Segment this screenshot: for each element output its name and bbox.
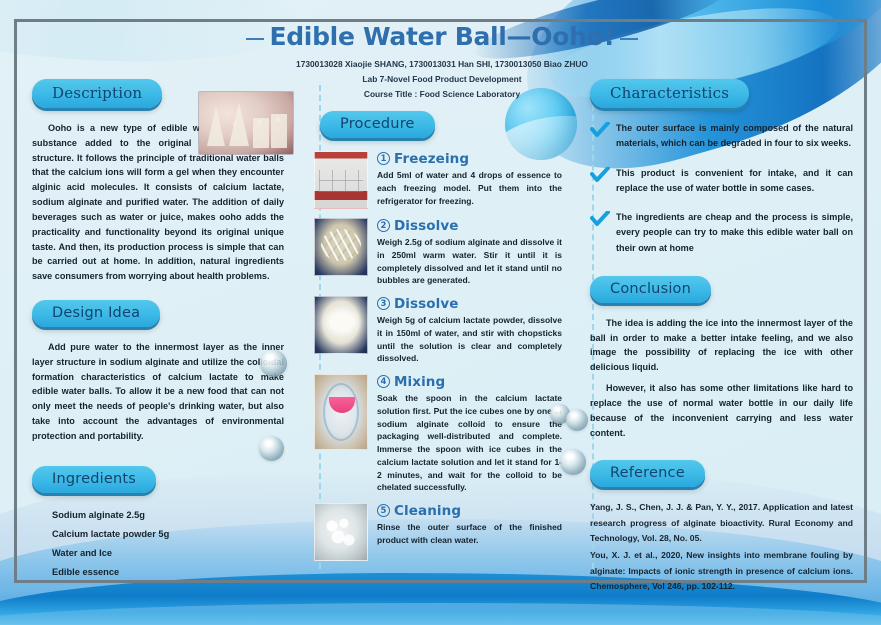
step-title: 4Mixing	[377, 374, 562, 390]
procedure-step: 3Dissolve Weigh 5g of calcium lactate po…	[314, 296, 562, 365]
step-text: Weigh 2.5g of sodium alginate and dissol…	[377, 236, 562, 287]
check-icon	[590, 121, 610, 152]
characteristic-item: The outer surface is mainly composed of …	[590, 121, 853, 152]
rinsing-photo	[314, 503, 368, 561]
procedure-step: 4Mixing Soak the spoon in the calcium la…	[314, 374, 562, 494]
section-heading-description: Description	[32, 79, 162, 108]
step-text: Add 5ml of water and 4 drops of essence …	[377, 169, 562, 207]
step-title-text: Cleaning	[394, 503, 461, 519]
step-number: 2	[377, 219, 390, 232]
poster-header: Edible Water Ball—Ooho! 1730013028 Xiaoj…	[262, 22, 622, 101]
ice-cube-tray-photo	[314, 151, 368, 209]
author-list: 1730013028 Xiaojie SHANG, 1730013031 Han…	[262, 58, 622, 71]
conclusion-paragraph: However, it also has some other limitati…	[590, 381, 853, 440]
step-text: Soak the spoon in the calcium lactate so…	[377, 392, 562, 494]
section-heading-ingredients: Ingredients	[32, 466, 156, 493]
characteristic-text: The ingredients are cheap and the proces…	[616, 210, 853, 256]
water-bubble-icon	[560, 449, 586, 475]
conclusion-paragraph: The idea is adding the ice into the inne…	[590, 316, 853, 375]
section-heading-design-idea: Design Idea	[32, 300, 160, 327]
step-title: 3Dissolve	[377, 296, 562, 312]
characteristic-text: The outer surface is mainly composed of …	[616, 121, 853, 152]
mixing-bowl-photo	[314, 374, 368, 450]
procedure-step: 2Dissolve Weigh 2.5g of sodium alginate …	[314, 218, 562, 287]
design-idea-body: Add pure water to the innermost layer as…	[32, 340, 284, 444]
procedure-step: 5Cleaning Rinse the outer surface of the…	[314, 503, 562, 561]
ingredients-photo	[199, 92, 293, 154]
list-item: Calcium lactate powder 5g	[52, 525, 284, 544]
title-row: Edible Water Ball—Ooho!	[262, 22, 622, 51]
reference-entry: Yang, J. S., Chen, J. J. & Pan, Y. Y., 2…	[590, 500, 853, 546]
reference-entry: You, X. J. et al., 2020, New insights in…	[590, 548, 853, 594]
course-title: Course Title : Food Science Laboratory	[262, 88, 622, 101]
characteristic-item: This product is convenient for intake, a…	[590, 166, 853, 197]
step-number: 5	[377, 504, 390, 517]
sodium-alginate-photo	[314, 218, 368, 276]
calcium-lactate-photo	[314, 296, 368, 354]
title-rule-left	[246, 38, 264, 40]
list-item: Water and Ice	[52, 544, 284, 563]
page-title: Edible Water Ball—Ooho!	[264, 22, 619, 51]
step-number: 4	[377, 375, 390, 388]
ingredients-list: Sodium alginate 2.5g Calcium lactate pow…	[32, 506, 284, 582]
step-title-text: Freezeing	[394, 151, 469, 167]
step-title-text: Dissolve	[394, 218, 459, 234]
section-heading-procedure: Procedure	[320, 111, 435, 138]
list-item: Sodium alginate 2.5g	[52, 506, 284, 525]
step-number: 3	[377, 297, 390, 310]
step-text: Weigh 5g of calcium lactate powder, diss…	[377, 314, 562, 365]
characteristic-item: The ingredients are cheap and the proces…	[590, 210, 853, 256]
lab-name: Lab 7-Novel Food Product Development	[262, 73, 622, 86]
section-heading-reference: Reference	[590, 460, 705, 487]
poster-canvas: Edible Water Ball—Ooho! 1730013028 Xiaoj…	[0, 0, 881, 625]
poster-body: Description Ooho is a new type of edible…	[14, 19, 867, 583]
left-column: Description Ooho is a new type of edible…	[14, 19, 302, 583]
right-column: Characteristics The outer surface is mai…	[572, 19, 867, 583]
step-title: 5Cleaning	[377, 503, 562, 519]
water-bubble-icon	[259, 436, 284, 461]
check-icon	[590, 166, 610, 197]
section-heading-conclusion: Conclusion	[590, 276, 711, 303]
step-title-text: Dissolve	[394, 296, 459, 312]
background-wave-highlight	[0, 603, 881, 625]
step-title-text: Mixing	[394, 374, 445, 390]
step-number: 1	[377, 152, 390, 165]
check-icon	[590, 210, 610, 256]
step-text: Rinse the outer surface of the finished …	[377, 521, 562, 547]
step-title: 2Dissolve	[377, 218, 562, 234]
water-bubble-icon	[260, 350, 287, 377]
characteristic-text: This product is convenient for intake, a…	[616, 166, 853, 197]
title-rule-right	[620, 38, 638, 40]
water-bubble-icon	[566, 409, 588, 431]
list-item: Edible essence	[52, 563, 284, 582]
